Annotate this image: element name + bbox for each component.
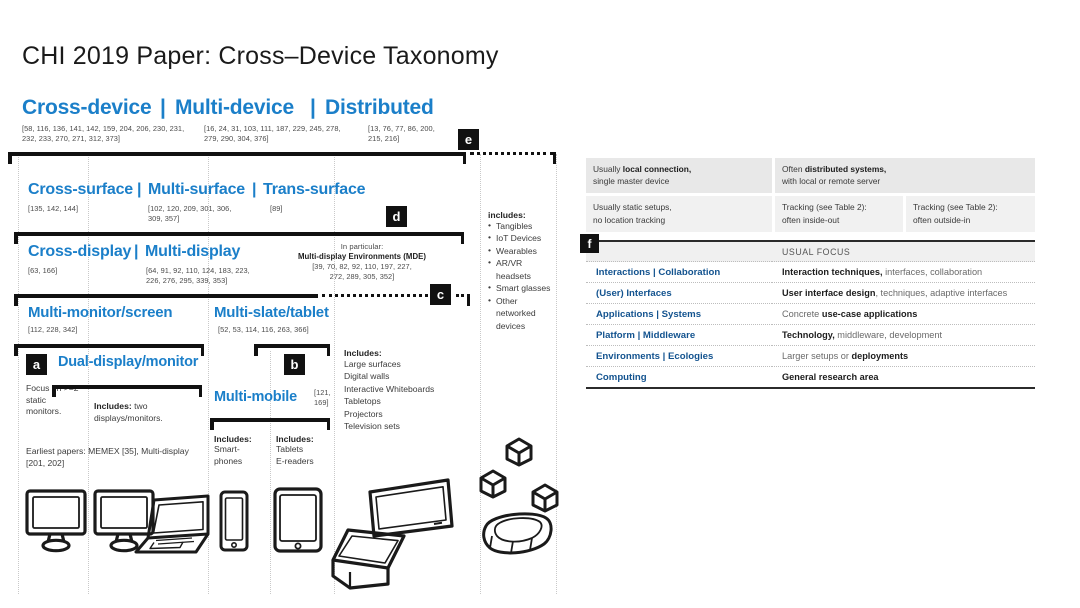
bracket-multi-monitor-line — [14, 344, 204, 348]
bracket-multi-mobile-tick-right — [327, 418, 331, 430]
term-cross-display: Cross-display — [28, 243, 131, 261]
list-item: Projectors — [344, 408, 472, 420]
table-header-row: USUAL FOCUS — [586, 242, 1035, 262]
column-separator — [18, 154, 19, 594]
includes-item: Smart- — [214, 444, 266, 456]
cell-bold: distributed systems, — [805, 164, 886, 174]
list-item: Tangibles — [488, 220, 554, 232]
cell-line1: Tracking (see Table 2): — [782, 202, 867, 212]
vr-headset-icon — [478, 508, 556, 562]
table-row: Platform | Middleware Technology, middle… — [586, 325, 1035, 346]
tabletop-icon — [330, 526, 408, 592]
table-row: Environments | Ecologies Larger setups o… — [586, 346, 1035, 367]
cell-lead: Often — [782, 164, 805, 174]
badge-c: c — [430, 284, 451, 305]
desc-bold: Technology, — [782, 330, 835, 340]
laptop-icon — [134, 494, 216, 556]
includes-item: phones — [214, 456, 266, 468]
includes-label: includes: — [488, 210, 554, 220]
term-cross-device: Cross-device — [22, 96, 152, 120]
includes-label: Includes: — [214, 434, 266, 444]
term-cross-surface: Cross-surface — [28, 181, 133, 199]
includes-label: Includes: — [344, 348, 472, 358]
refs-multi-display: [64, 91, 92, 110, 124, 183, 223, 226, 27… — [146, 266, 266, 286]
term-separator-pipe: | — [134, 243, 138, 261]
table-row: Applications | Systems Concrete use-case… — [586, 304, 1035, 325]
table-row: Usually local connection, single master … — [586, 158, 1035, 193]
mde-aside: In particular: Multi-display Environment… — [286, 242, 438, 282]
usual-focus-table: USUAL FOCUS Interactions | Collaboration… — [586, 240, 1035, 389]
bracket-c-line — [14, 294, 318, 298]
cell-line1: Tracking (see Table 2): — [913, 202, 998, 212]
bracket-e-line — [8, 152, 466, 156]
term-multi-device: Multi-device — [175, 96, 294, 120]
bracket-dual-display-tick-right — [199, 385, 203, 397]
bracket-multi-monitor-tick-left — [14, 344, 18, 356]
table-cell-distributed-systems: Often distributed systems, with local or… — [775, 158, 1035, 193]
cell-line2: often inside-out — [782, 215, 839, 225]
includes-surfaces-block: Includes: Large surfaces Digital walls I… — [344, 348, 472, 433]
term-separator-pipe: | — [252, 181, 256, 199]
focus-category-user-interfaces: (User) Interfaces — [586, 283, 772, 304]
includes-devices-block: includes: Tangibles IoT Devices Wearable… — [488, 210, 554, 332]
list-item: Tabletops — [344, 395, 472, 407]
bracket-c-dotted-line — [322, 294, 434, 297]
list-item: Other networked devices — [488, 295, 554, 332]
cell-rest: with local or remote server — [782, 176, 880, 186]
focus-desc-environments: Larger setups or deployments — [772, 346, 1035, 367]
cell-bold: local connection, — [623, 164, 691, 174]
bracket-e-dotted-line — [470, 152, 554, 155]
header-cell-category — [586, 242, 772, 262]
refs-cross-device: [58, 116, 136, 141, 142, 159, 204, 206, … — [22, 124, 187, 144]
desc-bold: General research area — [782, 372, 879, 382]
focus-category-environments: Environments | Ecologies — [586, 346, 772, 367]
monitor-icon — [24, 488, 88, 554]
badge-f: f — [580, 234, 599, 253]
focus-category-interactions: Interactions | Collaboration — [586, 262, 772, 283]
list-item: IoT Devices — [488, 232, 554, 244]
bracket-multi-mobile-line — [210, 418, 330, 422]
list-item: AR/VR headsets — [488, 257, 554, 282]
badge-d: d — [386, 206, 407, 227]
list-item: Smart glasses — [488, 282, 554, 294]
refs-multi-surface: [102, 120, 209, 301, 306, 309, 357] — [148, 204, 234, 224]
bracket-multi-slate-line — [254, 344, 330, 348]
table-row: (User) Interfaces User interface design,… — [586, 283, 1035, 304]
refs-multi-monitor-screen: [112, 228, 342] — [28, 325, 138, 335]
includes-surfaces-list: Large surfaces Digital walls Interactive… — [344, 358, 472, 433]
term-multi-surface: Multi-surface — [148, 181, 245, 199]
bracket-multi-slate-tick-right — [327, 344, 331, 356]
table-row: Interactions | Collaboration Interaction… — [586, 262, 1035, 283]
includes-label: Includes: — [276, 434, 332, 444]
table-cell-tracking-inside-out: Tracking (see Table 2): often inside-out — [775, 196, 903, 231]
desc-rest: middleware, development — [835, 330, 942, 340]
refs-distributed: [13, 76, 77, 86, 200, 215, 216] — [368, 124, 440, 144]
bracket-e-tick-right — [553, 152, 557, 164]
badge-b: b — [284, 354, 305, 375]
term-distributed: Distributed — [325, 96, 434, 120]
focus-desc-user-interfaces: User interface design, techniques, adapt… — [772, 283, 1035, 304]
desc-bold: User interface design — [782, 288, 875, 298]
bracket-dual-display-tick-left — [52, 385, 56, 397]
mde-title: Multi-display Environments (MDE) — [286, 252, 438, 262]
cell-line2: no location tracking — [593, 215, 665, 225]
refs-multi-slate-tablet: [52, 53, 114, 116, 263, 366] — [218, 325, 358, 335]
term-trans-surface: Trans-surface — [263, 181, 365, 199]
column-separator — [270, 351, 271, 594]
column-separator — [556, 154, 557, 594]
bracket-d-tick-right — [461, 232, 465, 244]
table-cell-local-connection: Usually local connection, single master … — [586, 158, 772, 193]
desc-rest: interfaces, collaboration — [883, 267, 983, 277]
refs-multi-mobile: [121, 169] — [314, 388, 338, 408]
term-multi-monitor-screen: Multi-monitor/screen — [28, 304, 172, 321]
cube-icon — [504, 436, 534, 468]
term-separator-pipe: | — [137, 181, 141, 199]
bracket-c-tick-right — [467, 294, 471, 306]
table-cell-tracking-outside-in: Tracking (see Table 2): often outside-in — [906, 196, 1035, 231]
bracket-e-tick-left — [8, 152, 12, 164]
refs-trans-surface: [89] — [270, 204, 330, 214]
bracket-multi-monitor-tick-right — [201, 344, 205, 356]
refs-multi-device: [16, 24, 31, 103, 111, 187, 229, 245, 27… — [204, 124, 354, 144]
includes-label: Includes: — [94, 401, 132, 411]
table-bottom-rule — [586, 387, 1035, 389]
cell-line2: often outside-in — [913, 215, 970, 225]
focus-category-applications: Applications | Systems — [586, 304, 772, 325]
term-multi-display: Multi-display — [145, 243, 240, 261]
refs-cross-surface: [135, 142, 144] — [28, 204, 128, 214]
list-item: Wearables — [488, 245, 554, 257]
includes-item: E-readers — [276, 456, 332, 468]
list-item: Large surfaces — [344, 358, 472, 370]
table-row: Usually static setups, no location track… — [586, 196, 1035, 231]
cell-lead: Usually — [593, 164, 623, 174]
badge-a: a — [26, 354, 47, 375]
bracket-dual-display-line — [52, 385, 202, 389]
smartphone-icon — [218, 489, 250, 553]
bracket-c-tick-left — [14, 294, 18, 306]
column-separator — [88, 154, 89, 594]
bracket-d-tick-left — [14, 232, 18, 244]
desc-pre: Larger setups or — [782, 351, 851, 361]
tablet-icon — [272, 486, 324, 554]
desc-bold: Interaction techniques, — [782, 267, 883, 277]
desc-bold: deployments — [851, 351, 908, 361]
term-separator-pipe: | — [160, 96, 166, 120]
cube-icon — [478, 468, 508, 500]
bracket-multi-slate-tick-left — [254, 344, 258, 356]
list-item: Television sets — [344, 420, 472, 432]
table-row: Computing General research area — [586, 367, 1035, 388]
includes-devices-list: Tangibles IoT Devices Wearables AR/VR he… — [488, 220, 554, 332]
focus-desc-platform: Technology, middleware, development — [772, 325, 1035, 346]
properties-table: Usually local connection, single master … — [586, 158, 1035, 235]
dual-display-includes-note: Includes: two displays/monitors. — [94, 401, 200, 424]
focus-category-platform: Platform | Middleware — [586, 325, 772, 346]
bracket-multi-mobile-tick-left — [210, 418, 214, 430]
multi-mobile-col-smartphones: Includes: Smart- phones — [214, 434, 266, 467]
table-cell-static-setups: Usually static setups, no location track… — [586, 196, 772, 231]
focus-desc-applications: Concrete use-case applications — [772, 304, 1035, 325]
term-separator-pipe: | — [310, 96, 316, 120]
page-title: CHI 2019 Paper: Cross–Device Taxonomy — [22, 42, 499, 71]
list-item: Digital walls — [344, 370, 472, 382]
desc-rest: , techniques, adaptive interfaces — [875, 288, 1007, 298]
bracket-e-tick-mid — [463, 152, 467, 164]
badge-e: e — [458, 129, 479, 150]
cell-line1: Usually static setups, — [593, 202, 672, 212]
focus-category-computing: Computing — [586, 367, 772, 388]
desc-pre: Concrete — [782, 309, 822, 319]
term-multi-mobile: Multi-mobile — [214, 389, 297, 405]
bracket-d-line — [14, 232, 464, 236]
mde-refs: [39, 70, 82, 92, 110, 197, 227, 272, 289… — [307, 262, 417, 282]
multi-mobile-col-tablets: Includes: Tablets E-readers — [276, 434, 332, 467]
includes-item: Tablets — [276, 444, 332, 456]
list-item: Interactive Whiteboards — [344, 383, 472, 395]
taxonomy-diagram: Cross-device | Multi-device | Distribute… — [0, 96, 572, 608]
refs-cross-display: [63, 166] — [28, 266, 108, 276]
focus-desc-interactions: Interaction techniques, interfaces, coll… — [772, 262, 1035, 283]
earliest-papers-note: Earliest papers: MEMEX [35], Multi-displ… — [26, 446, 206, 469]
header-cell-usual-focus: USUAL FOCUS — [772, 242, 1035, 262]
focus-desc-computing: General research area — [772, 367, 1035, 388]
desc-bold: use-case applications — [822, 309, 918, 319]
cell-rest: single master device — [593, 176, 669, 186]
term-dual-display-monitor: Dual-display/monitor — [58, 354, 198, 370]
mde-lead: In particular: — [286, 242, 438, 252]
term-multi-slate-tablet: Multi-slate/tablet — [214, 304, 329, 321]
